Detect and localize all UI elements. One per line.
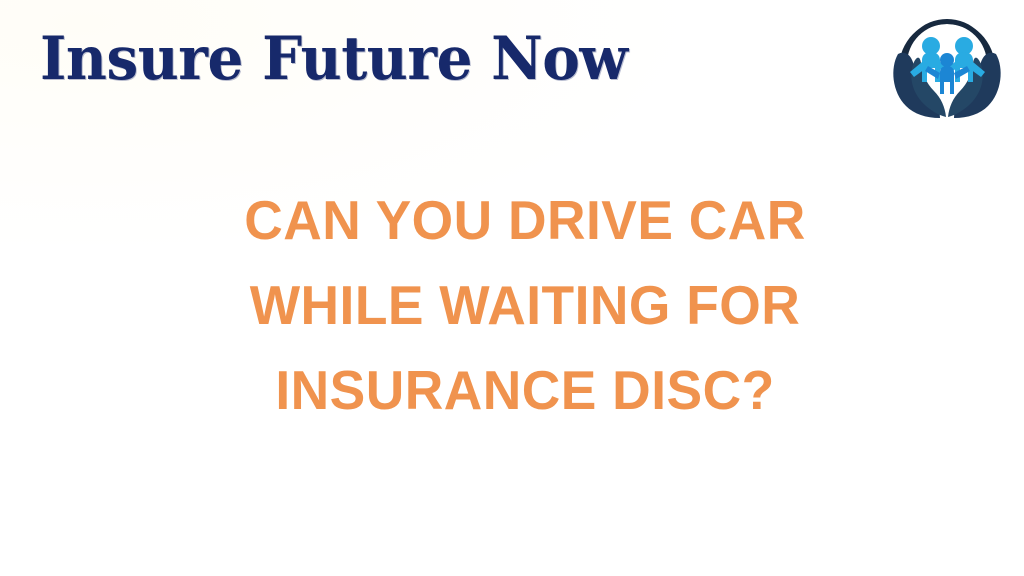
headline-line-3: INSURANCE DISC? [41, 348, 1009, 433]
banner-canvas: Insure Future Now [0, 0, 1024, 576]
brand-title: Insure Future Now [40, 26, 627, 93]
headline-line-2: WHILE WAITING FOR [41, 263, 1009, 348]
headline-line-1: CAN YOU DRIVE CAR [41, 178, 1009, 263]
headline-block: CAN YOU DRIVE CAR WHILE WAITING FOR INSU… [0, 178, 1024, 433]
hands-holding-family-logo [888, 6, 1006, 124]
